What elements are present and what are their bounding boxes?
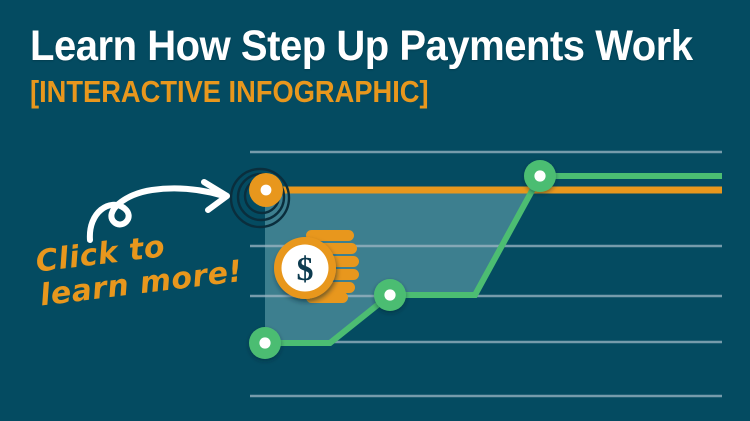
node-inner-1: [259, 337, 270, 348]
bullseye-inner-dot: [261, 185, 272, 196]
dot-node-3[interactable]: [524, 160, 556, 192]
dollar-coin-icon: $: [274, 237, 336, 299]
call-to-action[interactable]: Click to learn more!: [28, 178, 258, 338]
dot-node-2[interactable]: [374, 279, 406, 311]
node-inner-3: [534, 170, 545, 181]
node-inner-2: [384, 289, 395, 300]
page-title: Learn How Step Up Payments Work: [30, 22, 681, 70]
infographic-canvas: $ Learn How Step Up Payments Work [INTER…: [0, 0, 750, 421]
page-subtitle: [INTERACTIVE INFOGRAPHIC]: [30, 74, 646, 110]
coin-dollar-symbol: $: [297, 251, 314, 288]
header-block: Learn How Step Up Payments Work [INTERAC…: [30, 22, 730, 110]
